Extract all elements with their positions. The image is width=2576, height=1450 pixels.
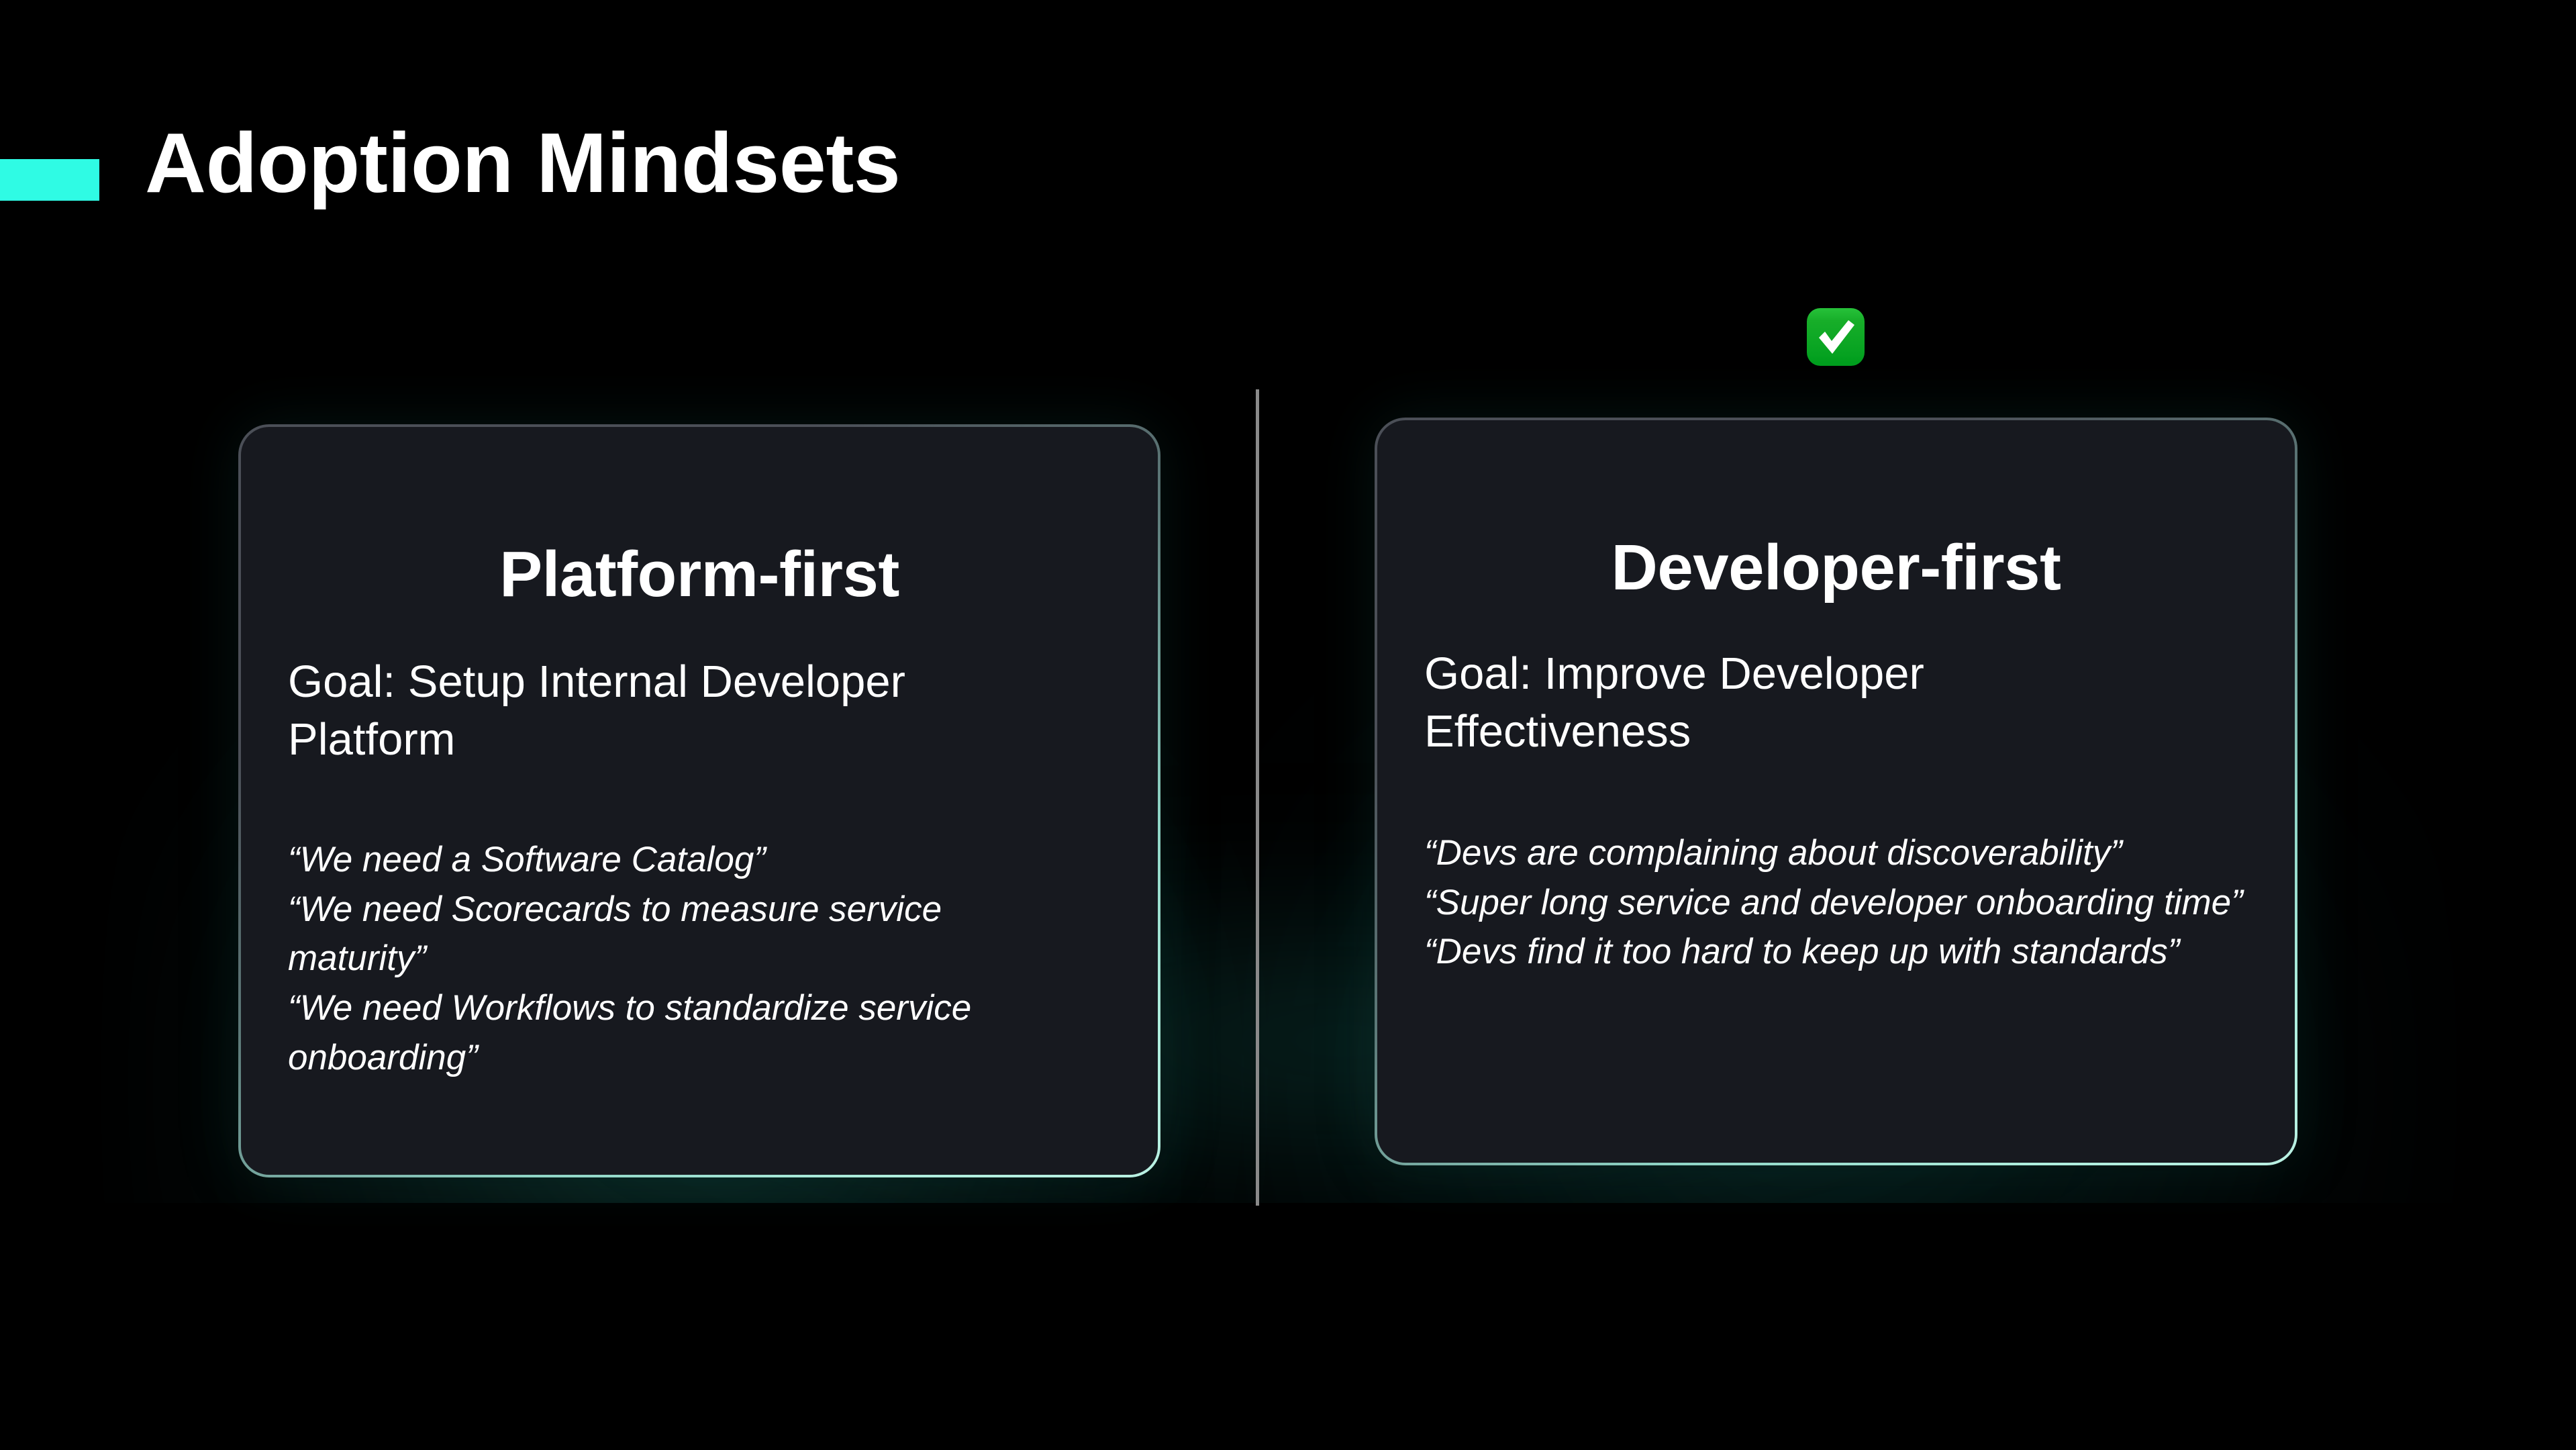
page-title: Adoption Mindsets [145,121,900,205]
quote-line: “Super long service and developer onboar… [1424,878,2250,928]
card-quotes-platform-first: “We need a Software Catalog” “We need Sc… [288,835,1080,1082]
vertical-divider [1256,389,1259,1206]
card-content-platform-first: Platform-first Goal: Setup Internal Deve… [241,427,1158,1175]
quote-line: “We need a Software Catalog” [288,835,1080,885]
quote-line: “We need Workflows to standardize servic… [288,983,1080,1082]
quote-line: “We need Scorecards to measure service m… [288,885,1080,983]
accent-bar [0,159,99,201]
quote-line: “Devs are complaining about discoverabil… [1424,828,2250,878]
card-quotes-developer-first: “Devs are complaining about discoverabil… [1424,828,2250,977]
quote-line: “Devs find it too hard to keep up with s… [1424,927,2250,977]
slide-root: Adoption Mindsets Platform-first Goal: S… [0,0,2576,1450]
white-check-mark-icon [1804,305,1867,369]
slide-header: Adoption Mindsets [0,0,2576,269]
mindset-card-developer-first[interactable]: Developer-first Goal: Improve Developer … [1375,418,2297,1165]
card-title-platform-first: Platform-first [241,542,1158,607]
card-title-developer-first: Developer-first [1377,536,2295,600]
card-content-developer-first: Developer-first Goal: Improve Developer … [1377,420,2295,1163]
mindset-card-platform-first[interactable]: Platform-first Goal: Setup Internal Deve… [238,424,1160,1177]
card-goal-developer-first: Goal: Improve Developer Effectiveness [1424,645,2028,761]
card-goal-platform-first: Goal: Setup Internal Developer Platform [288,653,1046,769]
